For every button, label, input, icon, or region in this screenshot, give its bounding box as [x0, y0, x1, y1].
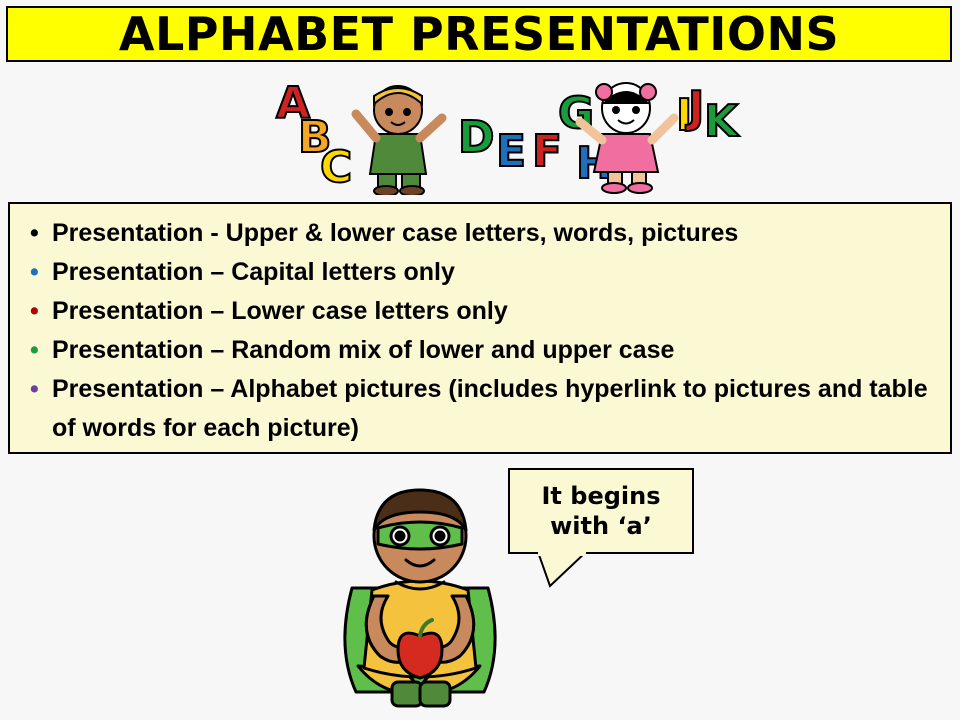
alphabet-letters-image: A B C D E F G H I J K: [258, 70, 758, 195]
title-banner: ALPHABET PRESENTATIONS: [6, 6, 952, 62]
svg-text:E: E: [496, 126, 526, 177]
svg-text:D: D: [458, 112, 495, 163]
content-box: Presentation - Upper & lower case letter…: [8, 202, 952, 454]
list-item: Presentation – Random mix of lower and u…: [24, 331, 936, 370]
list-item: Presentation - Upper & lower case letter…: [24, 214, 936, 253]
speech-bubble-line-2: with ‘a’: [550, 511, 652, 541]
bullet-lead-text: Presentation – Capital letters only: [52, 258, 455, 286]
bullet-lead-text: Presentation – Alphabet pictures: [52, 375, 448, 403]
svg-text:K: K: [704, 96, 740, 147]
svg-text:J: J: [685, 82, 704, 133]
boy-with-apple-image: [300, 470, 540, 720]
bullet-lead-text: Presentation - Upper & lower case letter…: [52, 219, 738, 247]
page-title: ALPHABET PRESENTATIONS: [119, 11, 839, 57]
bullet-lead-text: Presentation – Lower case letters only: [52, 297, 508, 325]
list-item: Presentation – Lower case letters only: [24, 292, 936, 331]
bullet-list: Presentation - Upper & lower case letter…: [24, 214, 936, 448]
speech-bubble-tail: [536, 552, 588, 588]
bullet-lead-text: Presentation – Random mix of lower and u…: [52, 336, 674, 364]
list-item: Presentation – Alphabet pictures (includ…: [24, 370, 936, 448]
list-item: Presentation – Capital letters only: [24, 253, 936, 292]
svg-text:C: C: [320, 142, 352, 193]
speech-bubble-line-1: It begins: [542, 481, 661, 511]
